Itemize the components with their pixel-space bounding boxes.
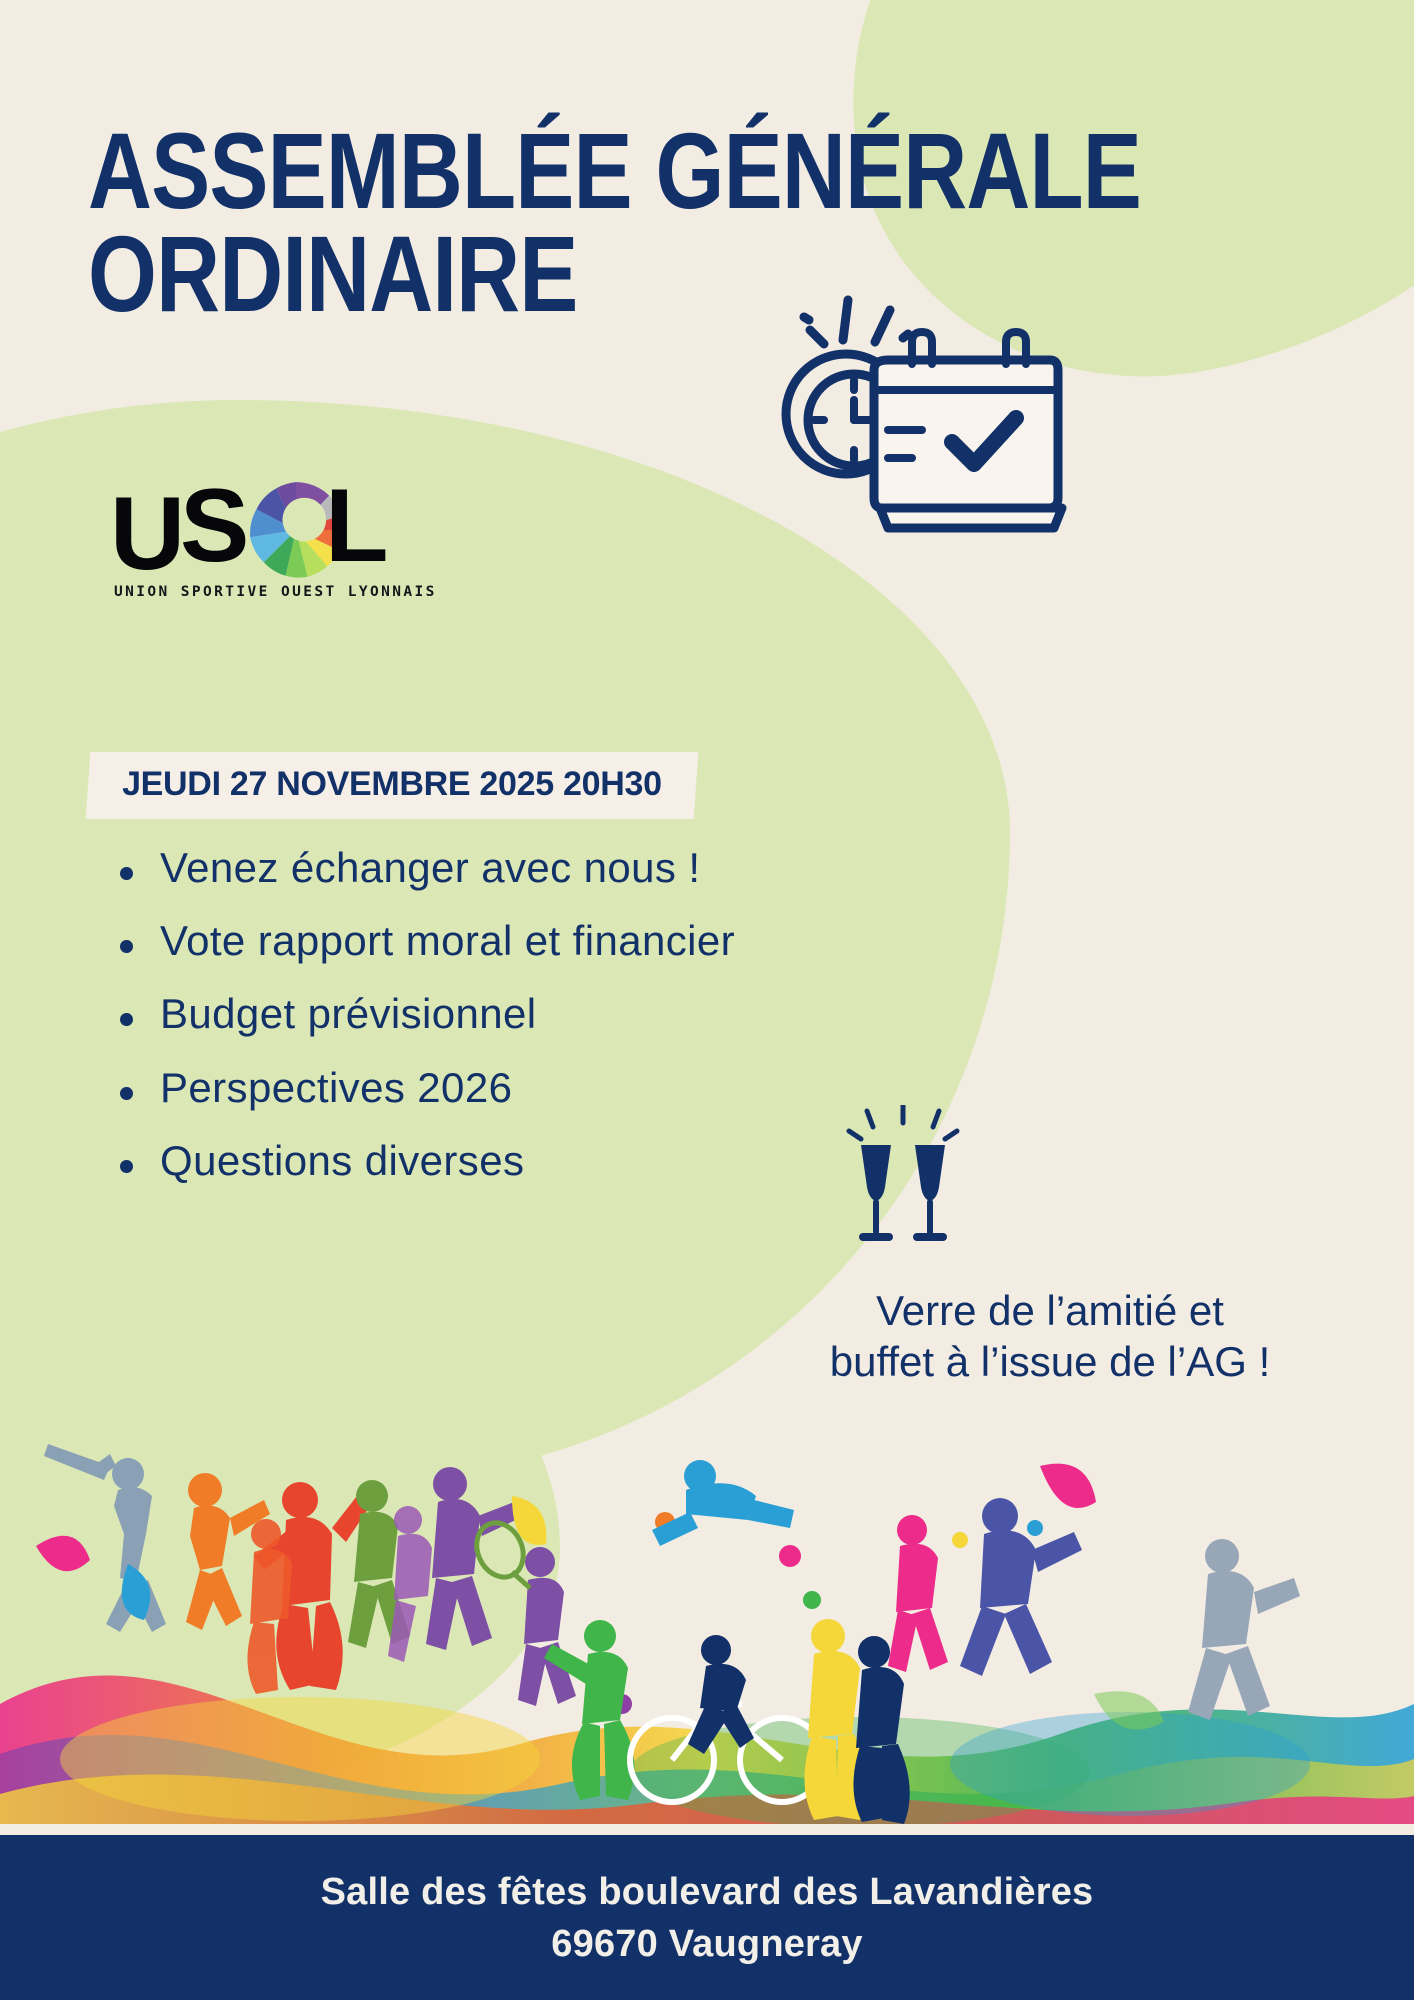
poster-canvas: ASSEMBLÉE GÉNÉRALE ORDINAIRE U S L bbox=[0, 0, 1414, 2000]
logo-letter-s: S bbox=[180, 474, 245, 578]
cheers-note: Verre de l’amitié et buffet à l’issue de… bbox=[820, 1285, 1280, 1387]
logo-letter-u: U bbox=[110, 482, 181, 586]
date-banner: JEUDI 27 NOVEMBRE 2025 20H30 bbox=[86, 752, 698, 819]
logo-tagline: UNION SPORTIVE OUEST LYONNAIS bbox=[114, 584, 437, 600]
footer-line-2: 69670 Vaugneray bbox=[551, 1925, 862, 1963]
list-item: Venez échanger avec nous ! bbox=[112, 845, 932, 891]
footer-address: Salle des fêtes boulevard des Lavandière… bbox=[0, 1835, 1414, 2000]
list-item: Budget prévisionnel bbox=[112, 991, 932, 1037]
alarm-clock-calendar-icon bbox=[762, 292, 1082, 552]
list-item: Questions diverses bbox=[112, 1138, 932, 1184]
footer-line-1: Salle des fêtes boulevard des Lavandière… bbox=[321, 1873, 1094, 1911]
list-item: Perspectives 2026 bbox=[112, 1065, 932, 1111]
title-line-1: ASSEMBLÉE GÉNÉRALE bbox=[88, 120, 908, 223]
date-text: JEUDI 27 NOVEMBRE 2025 20H30 bbox=[122, 765, 662, 804]
usol-logo: U S L UNION SPORTIVE OUEST LYONNAIS bbox=[110, 480, 410, 615]
agenda-list: Venez échanger avec nous ! Vote rapport … bbox=[112, 845, 932, 1211]
champagne-glasses-icon bbox=[843, 1105, 963, 1250]
list-item: Vote rapport moral et financier bbox=[112, 918, 932, 964]
logo-letter-l: L bbox=[325, 474, 385, 578]
sports-silhouettes-illustration bbox=[0, 1404, 1414, 1824]
